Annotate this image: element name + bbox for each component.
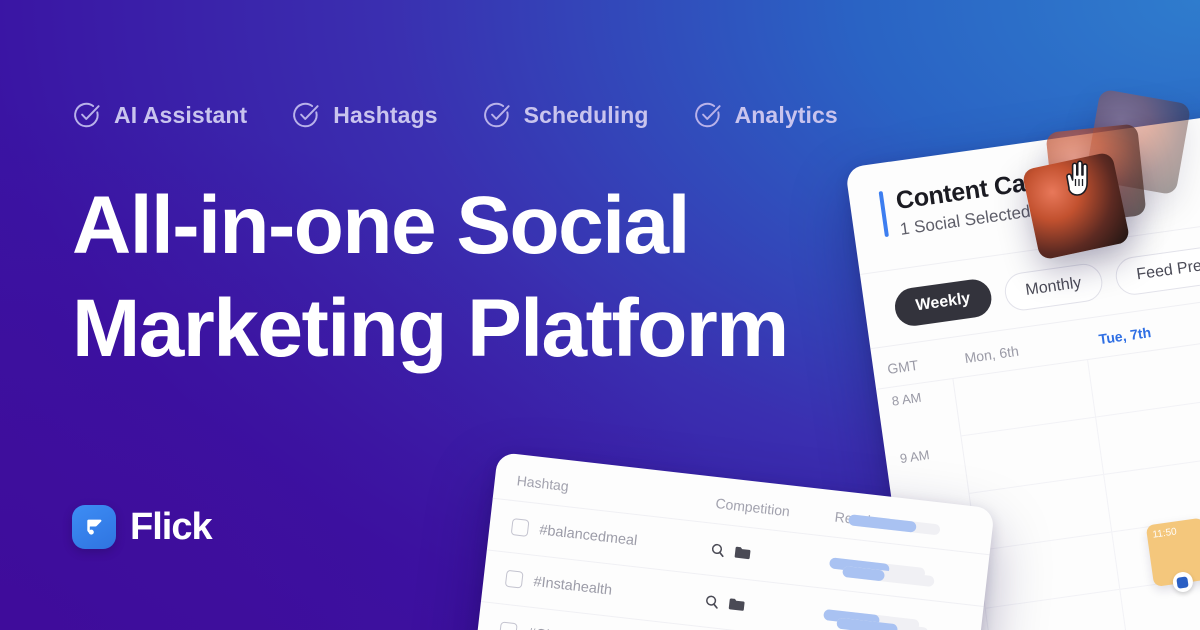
feature-label: AI Assistant — [114, 102, 247, 129]
day-tue[interactable]: Tue, 7th — [1084, 315, 1200, 350]
check-circle-icon — [482, 100, 512, 130]
search-icon[interactable] — [704, 593, 721, 610]
scheduled-post-card[interactable]: 11:50 — [1145, 518, 1200, 587]
feature-label: Scheduling — [524, 102, 649, 129]
search-icon[interactable] — [710, 542, 727, 559]
hashtag-label: #Cleaneating — [527, 625, 614, 630]
tab-feed-preview[interactable]: Feed Preview — [1113, 240, 1200, 297]
hero-content: AI Assistant Hashtags Scheduling — [72, 100, 838, 381]
brand-logo[interactable]: Flick — [72, 505, 212, 549]
tab-monthly[interactable]: Monthly — [1002, 262, 1104, 313]
feature-label: Hashtags — [333, 102, 437, 129]
row-checkbox[interactable] — [499, 621, 518, 630]
folder-icon[interactable] — [727, 596, 746, 613]
calendar-accent-bar — [879, 191, 889, 237]
check-circle-icon — [72, 100, 102, 130]
folder-icon[interactable] — [733, 544, 752, 561]
feature-label: Analytics — [735, 102, 838, 129]
brand-name: Flick — [130, 506, 212, 549]
feature-hashtags: Hashtags — [291, 100, 437, 130]
feature-list: AI Assistant Hashtags Scheduling — [72, 100, 838, 130]
timezone-label: GMT — [872, 352, 951, 379]
feature-scheduling: Scheduling — [482, 100, 649, 130]
hashtag-label: #Instahealth — [533, 573, 613, 598]
check-circle-icon — [693, 100, 723, 130]
headline-line-1: All-in-one Social — [72, 180, 689, 271]
time-label-9am: 9 AM — [884, 437, 968, 505]
tab-weekly[interactable]: Weekly — [893, 277, 994, 328]
row-checkbox[interactable] — [511, 518, 530, 537]
feature-analytics: Analytics — [693, 100, 838, 130]
time-label-8am: 8 AM — [876, 379, 960, 447]
row-checkbox[interactable] — [505, 570, 524, 589]
hashtag-label: #balancedmeal — [539, 522, 639, 549]
headline-line-2: Marketing Platform — [72, 277, 832, 380]
hero-banner: Content Calendar 1 Social Selected Weekl… — [0, 0, 1200, 630]
page-title: All-in-one Social Marketing Platform — [72, 174, 832, 381]
check-circle-icon — [291, 100, 321, 130]
column-competition: Competition — [715, 495, 836, 524]
feature-ai-assistant: AI Assistant — [72, 100, 247, 130]
flick-logo-icon — [72, 505, 116, 549]
drag-hand-cursor-icon — [1060, 158, 1094, 198]
